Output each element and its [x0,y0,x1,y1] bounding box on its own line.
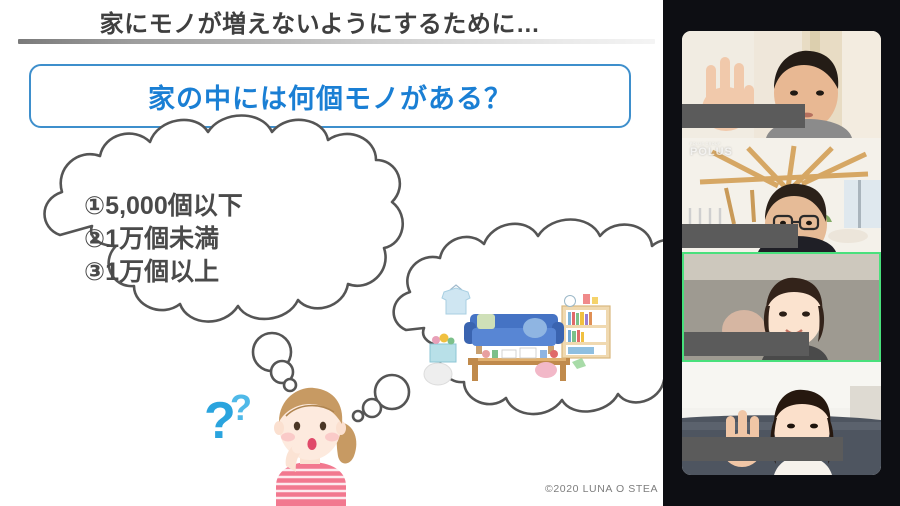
floor-toy-green [572,358,586,369]
floor-toy-pink [535,362,557,378]
toy-box-icon [430,334,456,363]
screen-root: 家にモノが増えないようにするために… 家の中には何個モノがある？ [0,0,900,506]
svg-text:?: ? [230,387,252,428]
copyright-notice: ©2020 LUNA O STEA [545,483,658,495]
participant-tile-3[interactable] [682,252,881,362]
presentation-slide: 家にモノが増えないようにするために… 家の中には何個モノがある？ [0,0,663,506]
participant-tile-4[interactable] [682,362,881,475]
video-participants-panel: POLUS GROUP POLUS [663,0,900,506]
hanging-shirt-icon [442,285,470,314]
participant-name-redaction-2 [682,224,798,248]
beanbag-icon [424,363,452,385]
living-room-illustration [420,278,620,388]
participant-tile-2[interactable]: POLUS GROUP POLUS [682,138,881,252]
answer-option-3: ③1万個以上 [84,256,243,289]
answer-option-2: ②1万個未満 [84,223,243,256]
answer-option-1: ①5,000個以下 [84,190,243,223]
polus-watermark: POLUS GROUP POLUS [690,142,733,158]
participant-name-redaction-4 [682,437,843,461]
sofa-icon [464,314,564,354]
polus-watermark-text: POLUS [690,146,733,158]
coffee-table-icon [468,348,570,381]
participant-name-redaction-1 [682,104,805,128]
participant-tile-1[interactable] [682,31,881,138]
thinking-woman-illustration [252,382,372,506]
participant-name-redaction-3 [684,332,809,356]
bookshelf-icon [562,294,610,358]
answer-options-list: ①5,000個以下 ②1万個未満 ③1万個以上 [84,190,243,289]
